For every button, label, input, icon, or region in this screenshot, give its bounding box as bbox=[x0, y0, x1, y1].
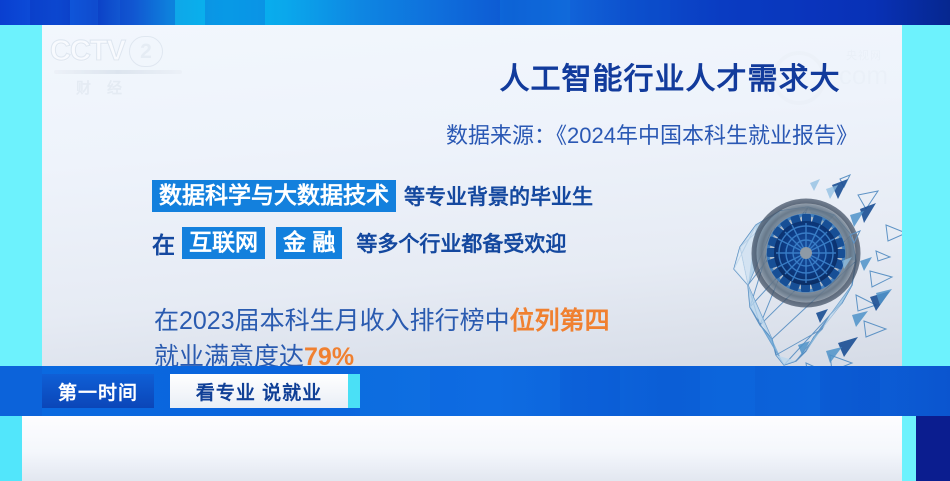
band-left-block bbox=[0, 366, 42, 416]
news-ticker-bar: 人才缺口大 技能要求高 人工智能行业高薪揽才 bbox=[22, 416, 916, 481]
cctv2-channel-logo: CCTV 2 财经 bbox=[50, 35, 195, 97]
right-cyan-strip bbox=[902, 25, 950, 366]
stat-satisfaction-accent: 79% bbox=[304, 343, 354, 366]
body-line-2-tail: 等多个行业都备受欢迎 bbox=[356, 228, 566, 258]
body-line-2: 在 互联网 金 融 等多个行业都备受欢迎 bbox=[152, 226, 722, 260]
stat-satisfaction-prefix: 就业满意度达 bbox=[154, 343, 304, 366]
ticker-right-cyan-edge bbox=[902, 416, 916, 481]
cctv-logo-text: CCTV bbox=[50, 35, 125, 68]
ai-head-gear-graphic bbox=[710, 165, 902, 366]
body-copy-block: 数据科学与大数据技术 等专业背景的毕业生 在 互联网 金 融 等多个行业都备受欢… bbox=[152, 180, 722, 260]
page-title: 人工智能行业人才需求大 bbox=[460, 63, 880, 96]
stat-rank-prefix: 在2023届本科生月收入排行榜中 bbox=[154, 307, 510, 335]
cctv-logo-number: 2 bbox=[129, 36, 163, 67]
cctv-logo-rule bbox=[54, 70, 182, 74]
stat-line-satisfaction: 就业满意度达79% bbox=[154, 339, 694, 366]
segment-name-tag: 看专业 说就业 bbox=[170, 374, 348, 408]
stats-block: 在2023届本科生月收入排行榜中位列第四 就业满意度达79% bbox=[154, 303, 694, 366]
major-highlight-badge: 数据科学与大数据技术 bbox=[152, 180, 396, 212]
top-decorative-bar bbox=[0, 0, 950, 25]
broadcast-screen: CCTV 2 财经 央视网 com 人工智能行业人才需求大 数据来源：《2024… bbox=[0, 0, 950, 481]
body-line-1: 数据科学与大数据技术 等专业背景的毕业生 bbox=[152, 180, 722, 212]
body-line-1-text: 等专业背景的毕业生 bbox=[404, 181, 593, 211]
body-line-2-lead: 在 bbox=[152, 226, 175, 260]
industry-highlight-internet: 互联网 bbox=[182, 227, 265, 259]
data-source-line: 数据来源：《2024年中国本科生就业报告》 bbox=[392, 118, 902, 150]
ticker-right-navy-block bbox=[916, 416, 950, 481]
info-graphic-panel: CCTV 2 财经 央视网 com 人工智能行业人才需求大 数据来源：《2024… bbox=[42, 25, 902, 366]
cctv-logo-subtitle: 财经 bbox=[76, 77, 195, 98]
stat-rank-accent: 位列第四 bbox=[510, 307, 610, 335]
stat-line-rank: 在2023届本科生月收入排行榜中位列第四 bbox=[154, 303, 694, 339]
segment-tag-cyan-edge bbox=[348, 374, 360, 408]
industry-highlight-finance: 金 融 bbox=[276, 227, 342, 259]
program-name-tag: 第一时间 bbox=[42, 374, 154, 408]
ticker-left-cyan-block bbox=[0, 416, 22, 481]
left-cyan-strip bbox=[0, 25, 42, 366]
